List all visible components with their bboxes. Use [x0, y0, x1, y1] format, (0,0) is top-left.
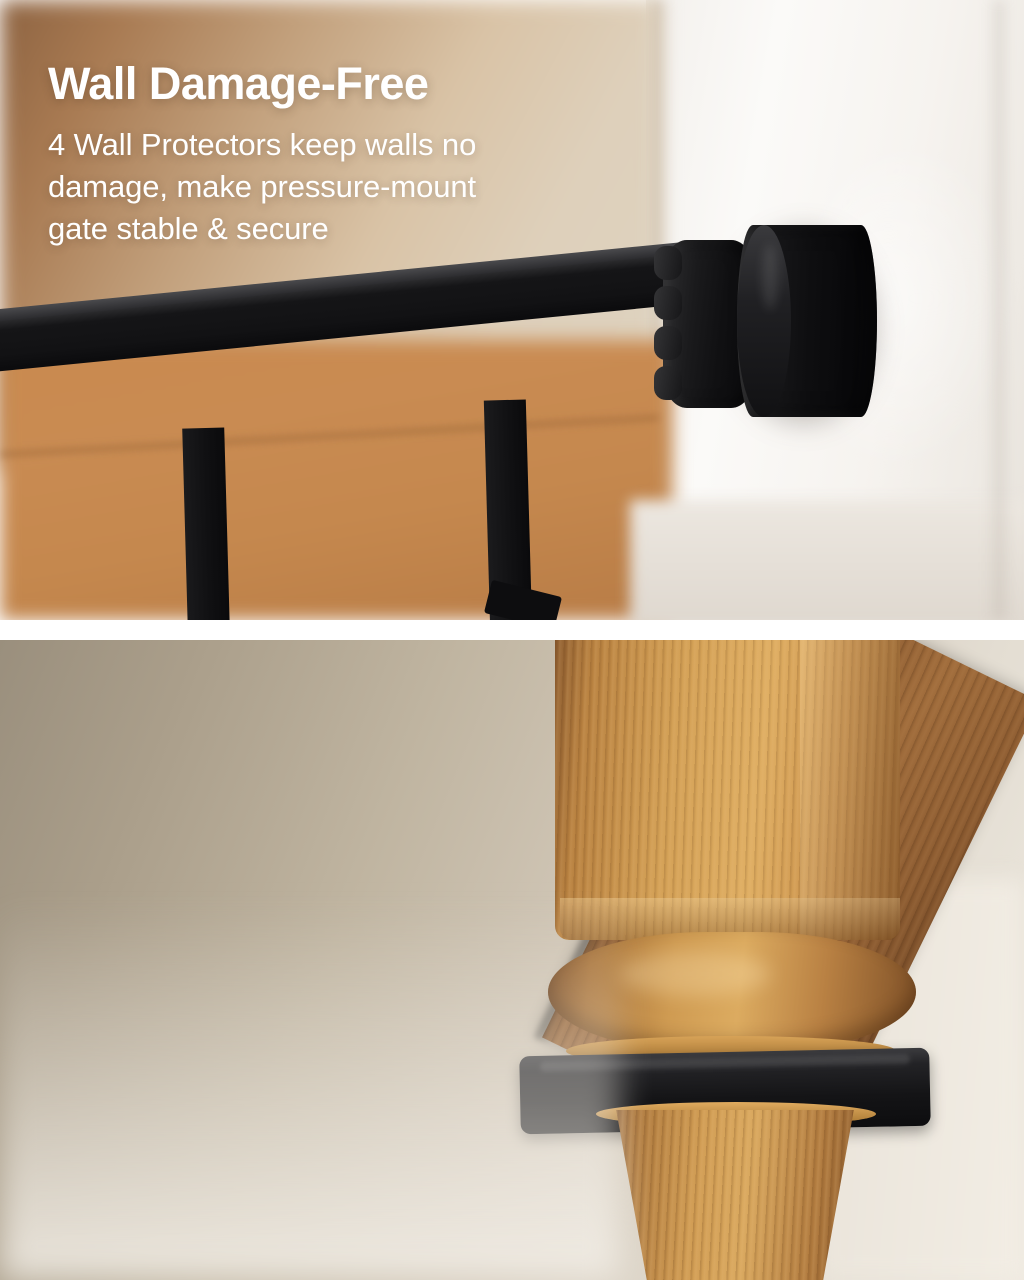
wall-soft-light [0, 900, 620, 1280]
newel-post-highlight [620, 952, 770, 996]
panel-divider [0, 620, 1024, 640]
knob-lobe [654, 246, 682, 280]
body-line: 4 Wall Protectors keep walls no [48, 127, 476, 162]
feature-text-block-top: Wall Damage-Free 4 Wall Protectors keep … [48, 58, 668, 250]
knob-lobe [654, 286, 682, 320]
gate-baluster [182, 427, 230, 620]
panel-wall-damage-free: Wall Damage-Free 4 Wall Protectors keep … [0, 0, 1024, 620]
knob-lobe [654, 366, 682, 400]
room-corner-edge [988, 0, 1004, 620]
body-line: gate stable & secure [48, 211, 329, 246]
wall-protector-highlight [762, 244, 778, 310]
body-text-wall-damage-free: 4 Wall Protectors keep walls no damage, … [48, 124, 668, 250]
knob-lobe [654, 326, 682, 360]
baseboard [630, 500, 1024, 620]
wood-floor [0, 340, 672, 620]
panel-versatile-y-shape-design: Versatile Y Shape Design 2 Free Y-spindl… [0, 640, 1024, 1280]
product-feature-image: Wall Damage-Free 4 Wall Protectors keep … [0, 0, 1024, 1280]
headline-wall-damage-free: Wall Damage-Free [48, 58, 668, 110]
newel-post-bevel [800, 640, 900, 940]
body-line: damage, make pressure-mount [48, 169, 476, 204]
